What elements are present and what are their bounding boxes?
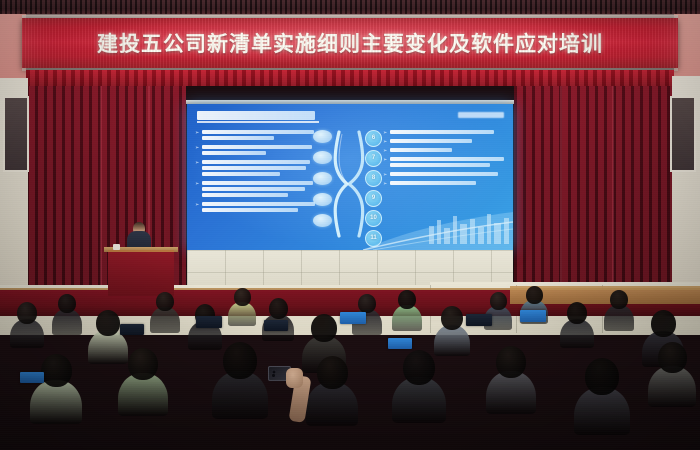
desk-monitor <box>340 312 366 324</box>
curtain-seam <box>560 86 562 306</box>
bullet-arrow-icon: ➢ <box>195 182 199 187</box>
bullet-text-line <box>202 145 312 149</box>
slide-bullet: ➢ <box>383 181 505 185</box>
audience-member-head <box>156 292 174 311</box>
audience-member-head <box>651 310 676 337</box>
audience-area <box>0 280 700 450</box>
bullet-text-line <box>202 130 314 134</box>
bullet-text-line <box>390 157 504 161</box>
bullet-text-line <box>202 136 274 140</box>
audience-member-head <box>128 348 158 380</box>
photographer-hand <box>286 368 303 388</box>
audience-member-head <box>58 294 76 313</box>
slide-bullet: ➢ <box>383 139 505 143</box>
audience-member-head <box>311 314 337 342</box>
desk-monitor <box>388 338 412 349</box>
bullet-text-line <box>390 172 498 176</box>
bullet-arrow-icon: ➢ <box>383 173 387 178</box>
bullet-text-line <box>202 160 310 164</box>
bullet-text-line <box>202 166 306 170</box>
slide-bullet: ➢ <box>383 172 505 176</box>
auditorium-photo: 建投五公司新清单实施细则主要变化及软件应对培训 ➢➢➢➢➢ 67891011 ➢… <box>0 0 700 450</box>
slide-number-circle: 6 <box>365 130 382 147</box>
slide-city-skyline-icon <box>363 198 513 250</box>
bullet-text-line <box>202 172 280 176</box>
stage-curtain-right <box>514 86 674 306</box>
ceiling-grid <box>0 0 700 14</box>
audience-member-head <box>490 292 507 310</box>
slide-bullet: ➢ <box>383 148 505 152</box>
desk-monitor <box>520 310 546 322</box>
audience-member-head <box>398 290 416 309</box>
bullet-text-line <box>390 130 494 134</box>
projection-screen: ➢➢➢➢➢ 67891011 ➢➢➢➢➢➢ <box>187 104 513 250</box>
bullet-text-line <box>202 193 288 197</box>
slide-number-circle: 7 <box>365 150 382 167</box>
bullet-text-line <box>202 187 305 191</box>
event-banner: 建投五公司新清单实施细则主要变化及软件应对培训 <box>22 18 678 68</box>
desk-monitor <box>196 316 222 328</box>
audience-member-head <box>585 358 619 395</box>
bullet-text-line <box>390 148 452 152</box>
slide-bullet: ➢ <box>383 157 505 167</box>
slide-bullet: ➢ <box>195 202 315 212</box>
audience-member-head <box>567 302 587 324</box>
slide-title <box>197 111 315 120</box>
slide-left-column: ➢➢➢➢➢ <box>195 130 315 217</box>
curtain-seam <box>612 86 614 306</box>
bullet-text-line <box>390 181 476 185</box>
audience-member-head <box>317 356 348 389</box>
audience-member-head <box>358 294 376 313</box>
audience-member-head <box>96 310 120 336</box>
slide-right-column: ➢➢➢➢➢➢ <box>383 130 505 190</box>
bullet-arrow-icon: ➢ <box>195 131 199 136</box>
water-cup <box>113 244 120 250</box>
bullet-arrow-icon: ➢ <box>195 161 199 166</box>
audience-member-head <box>526 286 543 304</box>
desk-monitor <box>120 324 144 335</box>
audience-member-head <box>223 342 257 379</box>
bullet-text-line <box>390 139 472 143</box>
audience-member-head <box>269 298 288 319</box>
curtain-valance <box>26 70 674 86</box>
bullet-text-line <box>202 202 315 206</box>
slide-bullet: ➢ <box>195 130 315 140</box>
slide-bullet: ➢ <box>195 160 315 176</box>
wall-speaker-left-icon <box>3 96 29 172</box>
audience-member-head <box>441 306 463 330</box>
audience-member-head <box>610 290 628 309</box>
banner-title: 建投五公司新清单实施细则主要变化及软件应对培训 <box>22 28 678 58</box>
bullet-arrow-icon: ➢ <box>195 146 199 151</box>
audience-member-head <box>41 354 72 387</box>
bullet-arrow-icon: ➢ <box>383 131 387 136</box>
slide-bullet: ➢ <box>383 130 505 134</box>
audience-member-head <box>496 346 526 378</box>
desk-monitor <box>466 314 492 326</box>
bullet-arrow-icon: ➢ <box>195 203 199 208</box>
slide-number-circle: 8 <box>365 170 382 187</box>
audience-member-head <box>658 342 687 373</box>
bullet-arrow-icon: ➢ <box>383 140 387 145</box>
slide-bullet: ➢ <box>195 181 315 197</box>
camera-lens-secondary-icon <box>272 374 275 377</box>
bullet-text-line <box>202 208 298 212</box>
audience-member-head <box>17 302 37 324</box>
bullet-text-line <box>390 163 490 167</box>
desk-monitor <box>264 320 288 331</box>
audience-member-head <box>234 288 251 306</box>
curtain-seam <box>100 86 102 306</box>
desk-monitor <box>20 372 44 383</box>
slide-vendor-logo-icon <box>458 112 504 118</box>
slide-title-underline <box>197 121 319 123</box>
slide-bullet: ➢ <box>195 145 315 155</box>
bullet-arrow-icon: ➢ <box>383 149 387 154</box>
bullet-arrow-icon: ➢ <box>383 182 387 187</box>
audience-member-head <box>403 350 435 385</box>
bullet-arrow-icon: ➢ <box>383 158 387 163</box>
wall-speaker-right-icon <box>670 96 696 172</box>
bullet-text-line <box>202 181 313 185</box>
bullet-text-line <box>202 151 266 155</box>
